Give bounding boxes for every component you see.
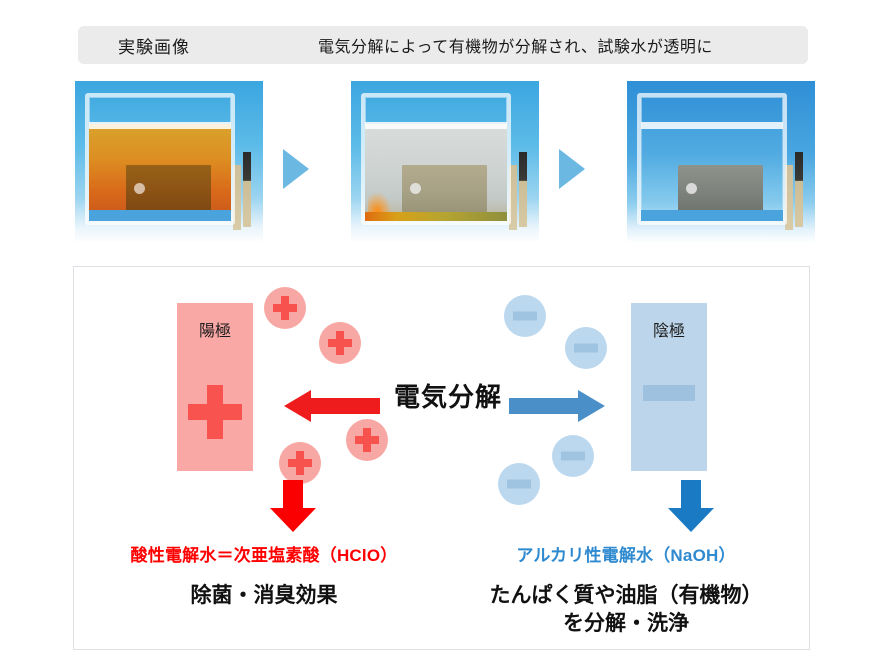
plus-ion-icon-2 — [319, 322, 361, 364]
result-alkaline-body-line1: たんぱく質や油脂（有機物） — [446, 582, 806, 610]
photo-electrode-plate — [402, 165, 487, 212]
photo-strip — [75, 81, 815, 246]
result-acidic-body: 除菌・消臭効果 — [84, 582, 444, 610]
header-bar: 実験画像 電気分解によって有機物が分解され、試験水が透明に — [78, 26, 808, 64]
photo-tank — [85, 93, 235, 225]
photo-pen — [795, 152, 803, 227]
plus-ion-icon-4 — [346, 419, 388, 461]
header-caption: 電気分解によって有機物が分解され、試験水が透明に — [318, 33, 713, 57]
arrow-right-icon — [509, 398, 605, 414]
minus-ion-icon-4 — [498, 463, 540, 505]
photo-tank — [361, 93, 511, 225]
arrow-down-stem — [283, 480, 303, 508]
minus-sign-icon — [643, 385, 695, 401]
anode-electrode: 陽極 — [177, 303, 253, 471]
result-alkaline-headline: アルカリ性電解水（NaOH） — [446, 541, 806, 566]
photo-plate-dot — [134, 183, 145, 194]
photo-tank-floor — [641, 210, 783, 221]
arrow-down-tip — [270, 508, 316, 532]
minus-ion-icon-2 — [565, 327, 607, 369]
photo-pen — [519, 152, 527, 227]
result-acidic: 酸性電解水＝次亜塩素酸（HClO） 除菌・消臭効果 — [84, 541, 444, 610]
triangle-right-icon-2 — [559, 149, 585, 189]
result-alkaline-body: たんぱく質や油脂（有機物） を分解・洗浄 — [446, 582, 806, 639]
photo-electrode-plate — [126, 165, 211, 212]
arrow-left-icon — [284, 398, 380, 414]
arrow-right-shaft — [509, 398, 579, 414]
minus-bar — [513, 312, 537, 321]
result-acidic-headline: 酸性電解水＝次亜塩素酸（HClO） — [84, 541, 444, 566]
plus-ion-icon-3 — [279, 442, 321, 484]
arrow-down-tip — [668, 508, 714, 532]
plus-bar-horizontal — [273, 304, 297, 312]
plus-sign-horizontal-bar — [188, 404, 242, 420]
photo-water-surface — [365, 122, 507, 129]
plus-ion-icon-1 — [264, 287, 306, 329]
photo-before-electrolysis — [75, 81, 263, 243]
minus-bar — [507, 480, 531, 489]
result-alkaline: アルカリ性電解水（NaOH） たんぱく質や油脂（有機物） を分解・洗浄 — [446, 541, 806, 639]
minus-ion-icon-1 — [504, 295, 546, 337]
arrow-left-head — [284, 390, 311, 422]
minus-ion-icon-3 — [552, 435, 594, 477]
cathode-electrode: 陰極 — [631, 303, 707, 471]
anode-label: 陽極 — [177, 317, 253, 341]
cathode-label: 陰極 — [631, 317, 707, 341]
arrow-down-icon-alkaline — [668, 480, 714, 532]
arrow-down-icon-acidic — [270, 480, 316, 532]
result-alkaline-body-line2: を分解・洗浄 — [446, 610, 806, 638]
photo-water-surface — [641, 122, 783, 129]
triangle-right-icon-1 — [283, 149, 309, 189]
minus-bar — [574, 344, 598, 353]
photo-sediment-layer — [365, 212, 507, 221]
header-label: 実験画像 — [118, 33, 190, 58]
photo-plate-dot — [410, 183, 421, 194]
minus-bar — [561, 452, 585, 461]
photo-mid-electrolysis — [351, 81, 539, 243]
minus-sign-bar — [643, 385, 695, 401]
arrow-left-shaft — [310, 398, 380, 414]
plus-bar-horizontal — [328, 339, 352, 347]
plus-bar-horizontal — [288, 459, 312, 467]
arrow-right-head — [578, 390, 605, 422]
photo-after-electrolysis — [627, 81, 815, 243]
photo-pen — [243, 152, 251, 227]
photo-tank — [637, 93, 787, 225]
photo-plate-dot — [686, 183, 697, 194]
electrolysis-diagram-panel: 陽極 陰極 電気分解 酸性電解水＝次亜塩素 — [73, 266, 810, 650]
photo-water-surface — [89, 122, 231, 129]
plus-bar-horizontal — [355, 436, 379, 444]
photo-tank-floor — [89, 210, 231, 221]
diagram-center-title: 電気分解 — [388, 377, 508, 414]
arrow-down-stem — [681, 480, 701, 508]
photo-electrode-plate — [678, 165, 763, 212]
